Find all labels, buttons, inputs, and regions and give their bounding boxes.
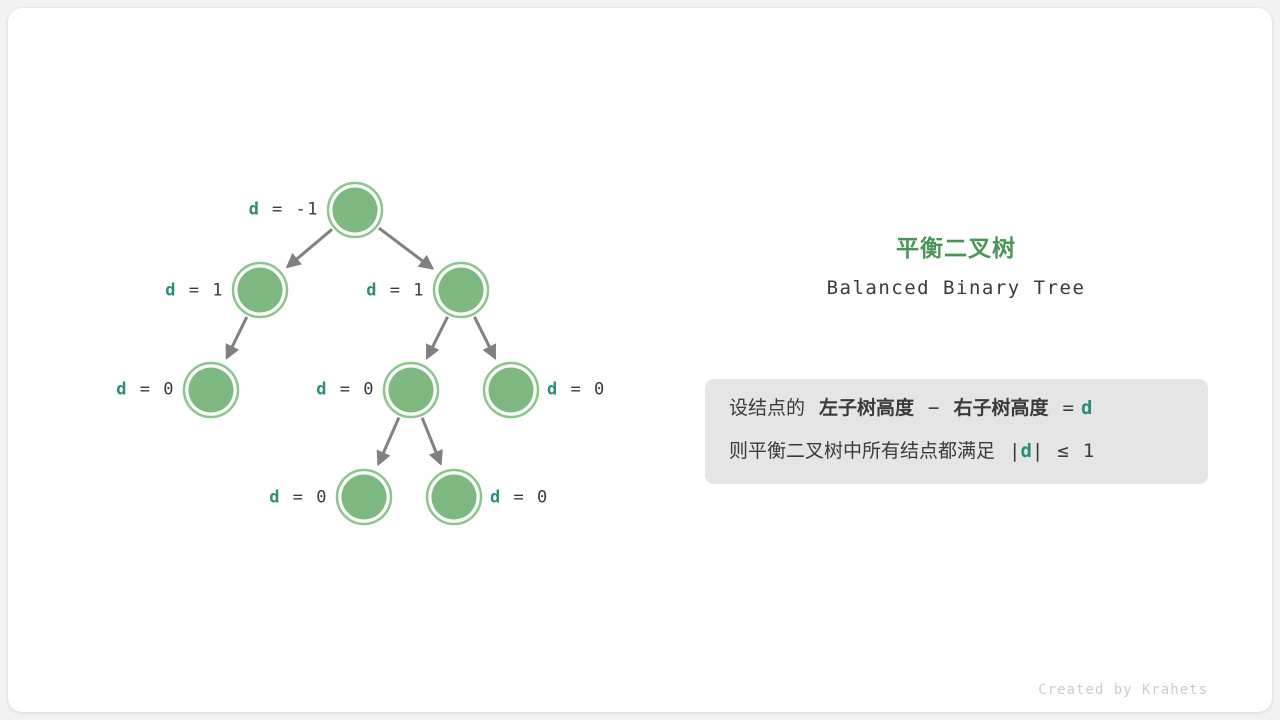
def-d-symbol-abs: d [1020, 440, 1031, 462]
definition-line-2: 则平衡二叉树中所有结点都满足|d|≤1 [729, 442, 1094, 461]
credit-text: Created by Krahets [888, 683, 1208, 697]
node-balance-label: d = 0 [490, 490, 549, 507]
def-prefix-2: 则平衡二叉树中所有结点都满足 [729, 440, 995, 462]
def-bold-left-subtree: 左子树高度 [819, 397, 914, 419]
tree-svg [8, 8, 688, 712]
definition-box: 设结点的左子树高度−右子树高度=d 则平衡二叉树中所有结点都满足|d|≤1 [705, 379, 1208, 484]
def-bold-right-subtree: 右子树高度 [953, 397, 1048, 419]
def-abs-bar-open: | [1009, 440, 1020, 462]
node-label-value: = 0 [281, 488, 328, 508]
tree-edge [427, 317, 447, 358]
def-prefix-1: 设结点的 [729, 397, 805, 419]
node-fill [189, 368, 234, 413]
node-fill [342, 475, 387, 520]
node-fill [333, 188, 378, 233]
tree-edge [378, 417, 398, 464]
tree-node [337, 470, 391, 524]
node-fill [439, 268, 484, 313]
def-bound-value: 1 [1083, 440, 1094, 462]
node-layer [184, 183, 538, 524]
definition-line-1: 设结点的左子树高度−右子树高度=d [729, 399, 1092, 418]
panel-title-cn: 平衡二叉树 [688, 236, 1224, 264]
tree-edge [379, 228, 432, 268]
node-fill [432, 475, 477, 520]
tree-node [427, 470, 481, 524]
tree-node [384, 363, 438, 417]
tree-edge [474, 317, 494, 358]
def-equals-sign: = [1063, 397, 1074, 419]
node-label-value: = 0 [502, 488, 549, 508]
node-label-value: = 0 [559, 380, 606, 400]
node-balance-label: d = 1 [366, 283, 425, 300]
node-balance-label: d = 0 [269, 490, 328, 507]
def-relation-sign: ≤ [1057, 440, 1068, 462]
white-card: d = -1d = 1d = 1d = 0d = 0d = 0d = 0d = … [8, 8, 1272, 712]
diagram-canvas: d = -1d = 1d = 1d = 0d = 0d = 0d = 0d = … [0, 0, 1280, 720]
panel-title-en: Balanced Binary Tree [688, 276, 1224, 301]
node-fill [389, 368, 434, 413]
tree-node [233, 263, 287, 317]
node-label-value: = 0 [128, 380, 175, 400]
tree-edge [288, 229, 333, 266]
tree-node [328, 183, 382, 237]
node-label-d-symbol: d [316, 380, 328, 400]
tree-edge [422, 418, 440, 464]
node-label-value: = 1 [177, 281, 224, 301]
node-label-d-symbol: d [165, 281, 177, 301]
node-label-d-symbol: d [116, 380, 128, 400]
node-fill [238, 268, 283, 313]
node-balance-label: d = 0 [116, 382, 175, 399]
def-abs-bar-close: | [1032, 440, 1043, 462]
node-label-value: = -1 [260, 200, 319, 220]
tree-node [484, 363, 538, 417]
def-d-symbol: d [1081, 397, 1092, 419]
node-balance-label: d = -1 [249, 202, 319, 219]
node-balance-label: d = 0 [547, 382, 606, 399]
node-label-d-symbol: d [249, 200, 261, 220]
node-label-value: = 1 [378, 281, 425, 301]
tree-node [434, 263, 488, 317]
node-label-d-symbol: d [490, 488, 502, 508]
node-balance-label: d = 0 [316, 382, 375, 399]
binary-tree-figure: d = -1d = 1d = 1d = 0d = 0d = 0d = 0d = … [8, 8, 688, 712]
node-fill [489, 368, 534, 413]
node-label-d-symbol: d [547, 380, 559, 400]
info-panel: 平衡二叉树 Balanced Binary Tree 设结点的左子树高度−右子树… [688, 8, 1280, 712]
node-balance-label: d = 1 [165, 283, 224, 300]
node-label-d-symbol: d [269, 488, 281, 508]
def-minus-sign: − [928, 397, 939, 419]
node-label-d-symbol: d [366, 281, 378, 301]
node-label-value: = 0 [328, 380, 375, 400]
tree-edge [227, 317, 247, 358]
tree-node [184, 363, 238, 417]
